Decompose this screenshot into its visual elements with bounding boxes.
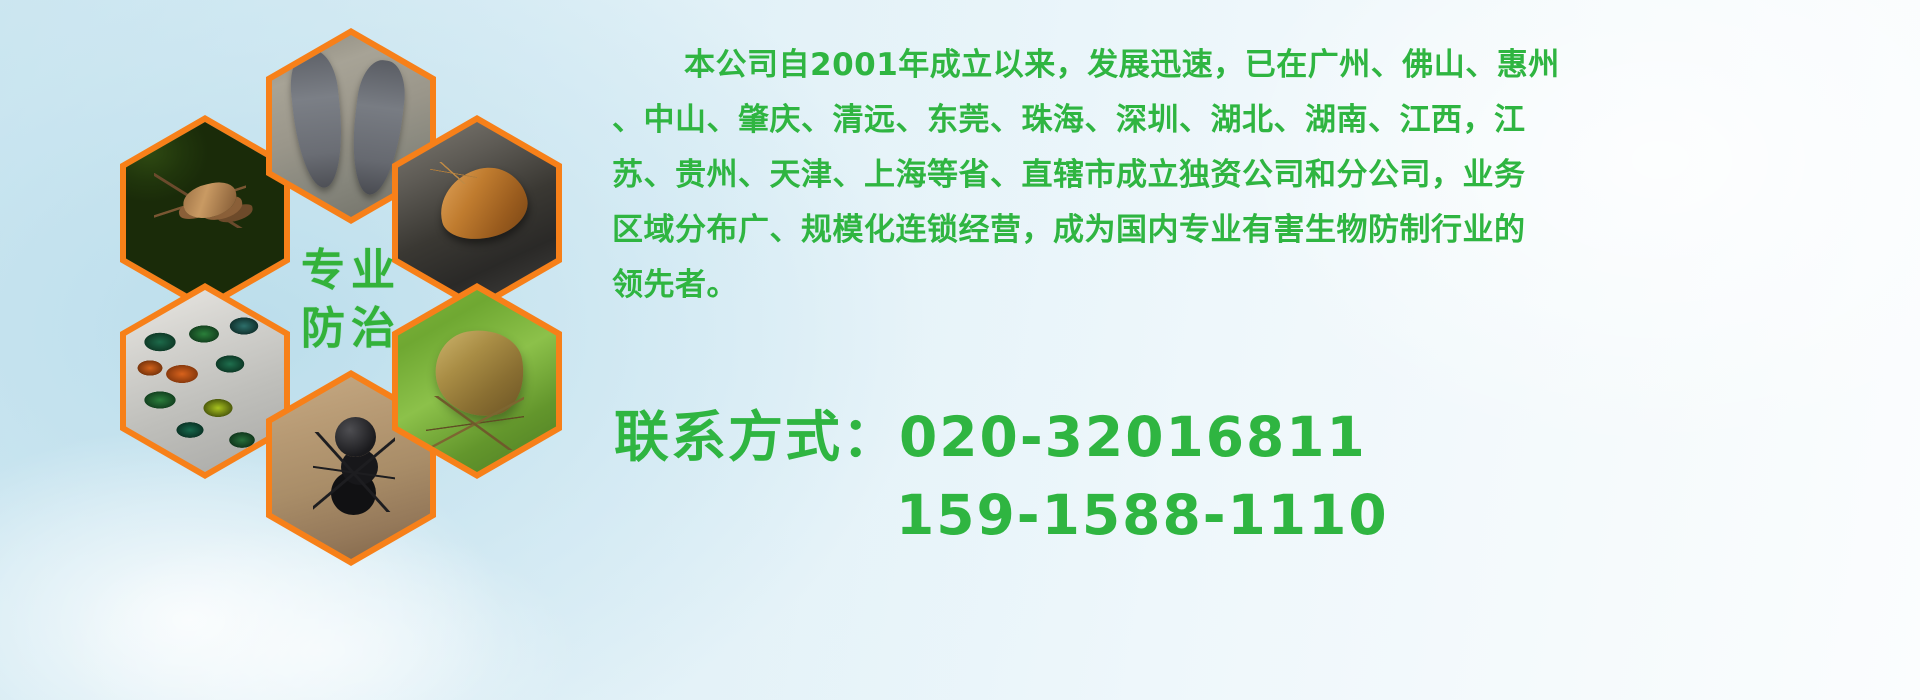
banner-content: 本公司自2001年成立以来，发展迅速，已在广州、佛山、惠州 、中山、肇庆、清远、… (600, 0, 1920, 700)
contact-primary-line: 联系方式：020-32016811 (614, 398, 1914, 476)
description-line-3: 苏、贵州、天津、上海等省、直辖市成立独资公司和分公司，业务 (612, 148, 1920, 203)
fly-photo (126, 290, 284, 472)
description-line-1: 本公司自2001年成立以来，发展迅速，已在广州、佛山、惠州 (612, 38, 1920, 93)
company-description: 本公司自2001年成立以来，发展迅速，已在广州、佛山、惠州 、中山、肇庆、清远、… (612, 38, 1920, 313)
contact-block: 联系方式：020-32016811 159-1588-1110 (614, 398, 1914, 554)
contact-phone[interactable]: 020-32016811 (899, 405, 1367, 469)
contact-mobile[interactable]: 159-1588-1110 (896, 483, 1389, 547)
slogan-line-1: 专业 (301, 242, 401, 300)
hex-inner-fly (126, 290, 284, 472)
description-line-2: 、中山、肇庆、清远、东莞、珠海、深圳、湖北、湖南、江西，江 (612, 93, 1920, 148)
contact-secondary-line: 159-1588-1110 (614, 476, 1914, 554)
hex-inner-mosquito (126, 122, 284, 304)
slogan-line-2: 防治 (301, 300, 401, 358)
hex-cell-slogan: 专业 防治 (263, 198, 439, 402)
contact-label: 联系方式： (614, 405, 899, 469)
pest-control-banner: 专业 防治 本公司自2001年成立以来，发展迅速，已在广州、佛山、惠州 、中山、… (0, 0, 1920, 700)
description-line-4: 区域分布广、规模化连锁经营，成为国内专业有害生物防制行业的 (612, 203, 1920, 258)
description-line-5: 领先者。 (612, 258, 1920, 313)
slogan-text: 专业 防治 (301, 242, 401, 358)
honeycomb-collage: 专业 防治 (0, 0, 600, 700)
mosquito-photo (126, 122, 284, 304)
